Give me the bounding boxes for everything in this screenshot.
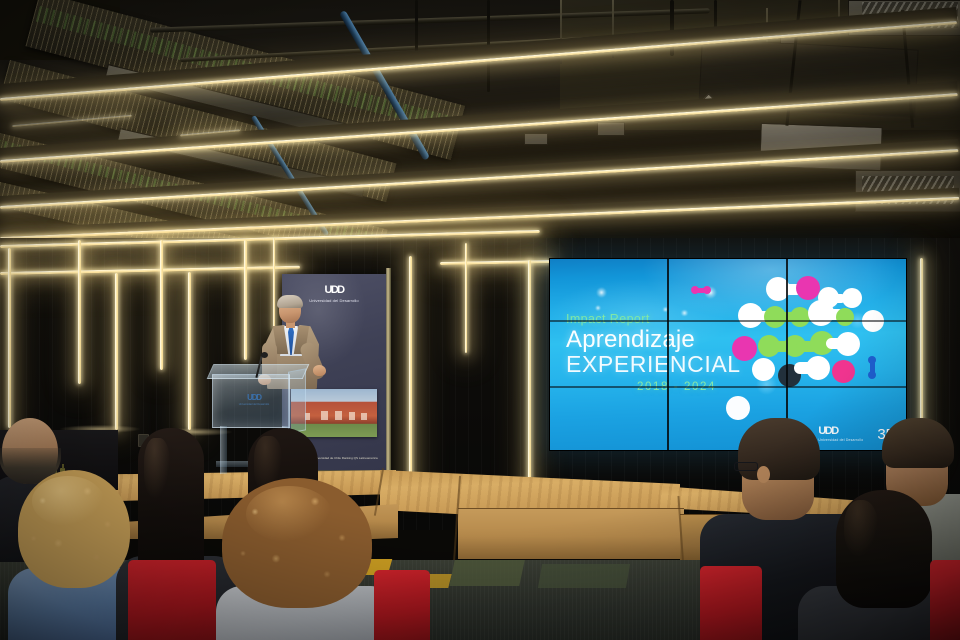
podium-logo-subtitle: Universidad del Desarrollo [236, 403, 272, 406]
chair-red-left [128, 560, 216, 640]
audience-ear [757, 466, 770, 483]
dot-white-9 [806, 356, 830, 380]
stage-platform-face-2 [458, 508, 684, 559]
slide-text-block: Impact Report Aprendizaje EXPERIENCIAL 2… [566, 313, 741, 393]
wall-led-vertical-2 [78, 240, 81, 384]
speaker-hair [277, 295, 303, 308]
photo-window-2 [335, 411, 342, 420]
chair-red-right [700, 566, 762, 640]
ceiling-conduit-3 [670, 0, 674, 56]
microphone-head [261, 352, 268, 358]
dot-white-8 [752, 358, 775, 381]
wall-led-vertical-1 [8, 248, 11, 428]
chair-red-far-right [930, 560, 960, 640]
dot-white-10 [726, 396, 750, 420]
dot-green-2 [790, 307, 810, 327]
dot-blue-small-2 [868, 371, 876, 379]
dot-magenta-2 [732, 336, 757, 361]
wall-led-vertical-5 [188, 272, 191, 430]
dot-magenta-1 [796, 276, 820, 300]
audience-hair-sheen-3 [844, 500, 878, 556]
video-wall-bezel-h2 [549, 386, 907, 388]
chair-red-center [374, 570, 430, 640]
audience-hair-highlight-2 [246, 486, 332, 542]
slide-title-line1: Aprendizaje [566, 328, 741, 352]
podium-logo: UDD Universidad del Desarrollo [236, 394, 272, 406]
speaker-hand-right [313, 365, 326, 376]
video-wall-bezel-h1 [549, 320, 907, 322]
wall-led-vertical-8 [409, 256, 412, 484]
wall-led-vertical-10 [528, 260, 531, 488]
wall-led-vertical-6 [244, 240, 247, 360]
podium-logo-mark: UDD [236, 394, 272, 402]
ceiling-fixture-box-3 [524, 133, 548, 145]
audience-hair-man-right [882, 418, 954, 468]
audience-hair-sheen [144, 438, 170, 498]
audience-member-curly-woman [222, 478, 382, 640]
wall-led-vertical-4 [160, 240, 163, 370]
dot-white-3 [842, 288, 862, 308]
wall-led-vertical-3 [115, 273, 118, 430]
banner-pole [386, 268, 391, 476]
banner-logo-mark: UDD [282, 285, 386, 296]
carpet-tile-green-2 [538, 564, 630, 588]
slide-dot-graphic [734, 278, 894, 423]
carpet-tile-green [449, 560, 525, 586]
slide-light-flare-3 [595, 305, 601, 311]
photo-window-5 [361, 413, 367, 420]
slide-light-flare [596, 287, 607, 298]
dot-white-7 [836, 332, 860, 356]
dot-green-3 [836, 308, 854, 326]
wall-led-vertical-9 [465, 243, 467, 353]
ceiling-fixture-box-2 [597, 122, 625, 136]
dot-magenta-3 [832, 360, 855, 383]
conference-hall-photo: Impact Report Aprendizaje EXPERIENCIAL 2… [0, 0, 960, 640]
video-wall-bezel-v1 [667, 258, 669, 451]
dot-magenta-small-2 [703, 286, 711, 294]
podium-side-panel [288, 368, 306, 433]
photo-window-3 [349, 412, 355, 420]
eyeglasses [734, 462, 758, 471]
audience-hair-highlight [32, 476, 104, 526]
slide-title-line2: EXPERIENCIAL [566, 353, 741, 376]
